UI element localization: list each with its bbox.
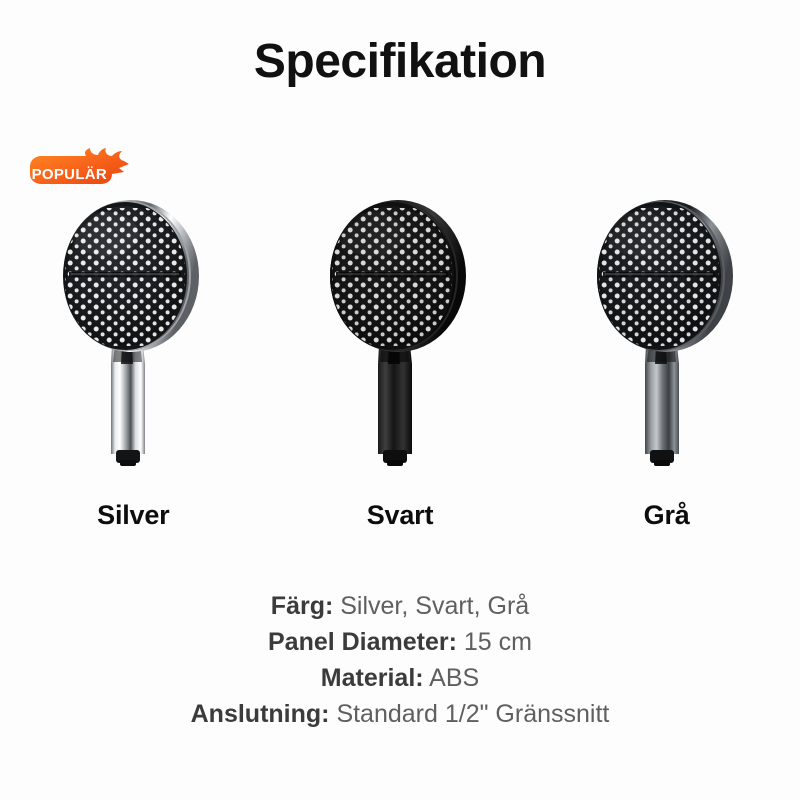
popular-badge: POPULÄR	[20, 147, 132, 193]
spec-row-panel-diameter: Panel Diameter: 15 cm	[0, 624, 800, 660]
shower-head-icon	[577, 194, 757, 494]
shower-head-icon	[310, 194, 490, 494]
specification-list: Färg: Silver, Svart, Grå Panel Diameter:…	[0, 588, 800, 732]
variant-silver[interactable]: POPULÄR	[18, 140, 248, 540]
spec-key-anslutning: Anslutning:	[191, 700, 330, 728]
shower-head-silver[interactable]	[43, 194, 223, 494]
variant-label-svart: Svart	[367, 500, 434, 531]
spec-value-farg: Silver, Svart, Grå	[340, 592, 529, 620]
variant-label-gra: Grå	[644, 500, 690, 531]
spec-key-material: Material:	[321, 664, 424, 692]
spec-key-panel-diameter: Panel Diameter:	[268, 628, 457, 656]
shower-head-svart[interactable]	[310, 194, 490, 494]
spec-row-anslutning: Anslutning: Standard 1/2" Gränssnitt	[0, 696, 800, 732]
spec-value-anslutning: Standard 1/2" Gränssnitt	[336, 700, 609, 728]
spec-key-farg: Färg:	[271, 592, 334, 620]
spec-value-panel-diameter: 15 cm	[464, 628, 532, 656]
spec-row-farg: Färg: Silver, Svart, Grå	[0, 588, 800, 624]
flame-icon	[20, 147, 132, 193]
variant-gra[interactable]: Grå	[552, 140, 782, 540]
specification-page: Specifikation POPULÄR	[0, 0, 800, 800]
shower-head-gra[interactable]	[577, 194, 757, 494]
spec-value-material: ABS	[429, 664, 479, 692]
page-title: Specifikation	[0, 36, 800, 89]
shower-head-icon	[43, 194, 223, 494]
variant-row: POPULÄR	[0, 140, 800, 540]
variant-label-silver: Silver	[97, 500, 169, 531]
spec-row-material: Material: ABS	[0, 660, 800, 696]
variant-svart[interactable]: Svart	[285, 140, 515, 540]
